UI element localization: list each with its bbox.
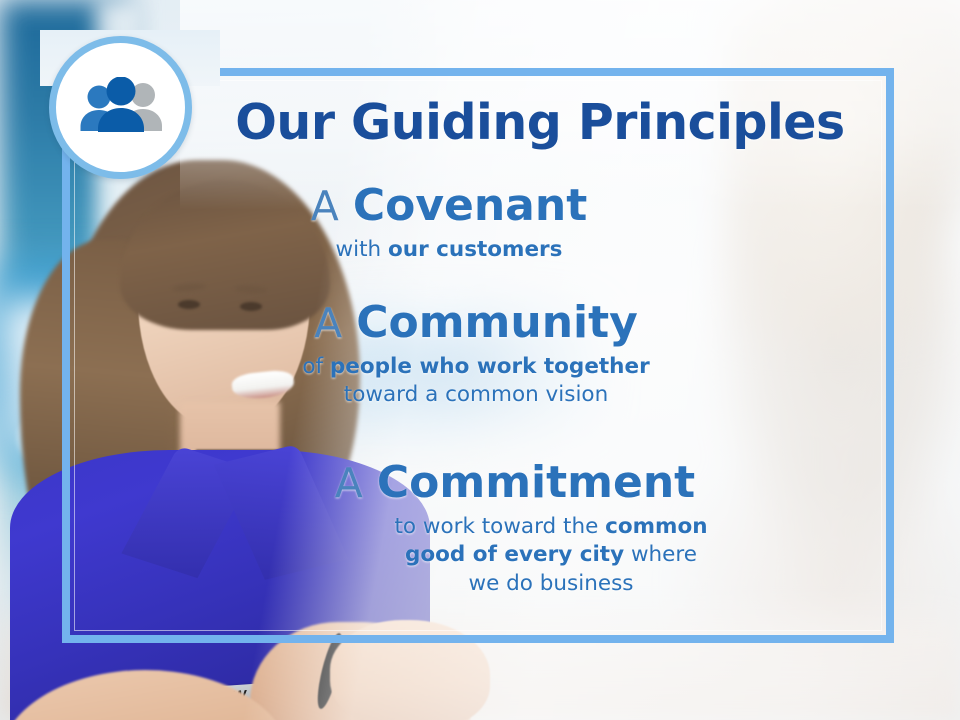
people-group-icon	[75, 77, 167, 139]
poster: FLOW Volkswagen FLOW	[0, 0, 960, 720]
people-badge	[49, 36, 192, 179]
employee-hands	[330, 620, 490, 720]
blurred-customer-hair	[722, 10, 942, 340]
employee-eye-left	[178, 300, 200, 309]
employee-eye-right	[240, 302, 262, 311]
employee-photo: FLOW Volkswagen FLOW	[0, 150, 470, 720]
